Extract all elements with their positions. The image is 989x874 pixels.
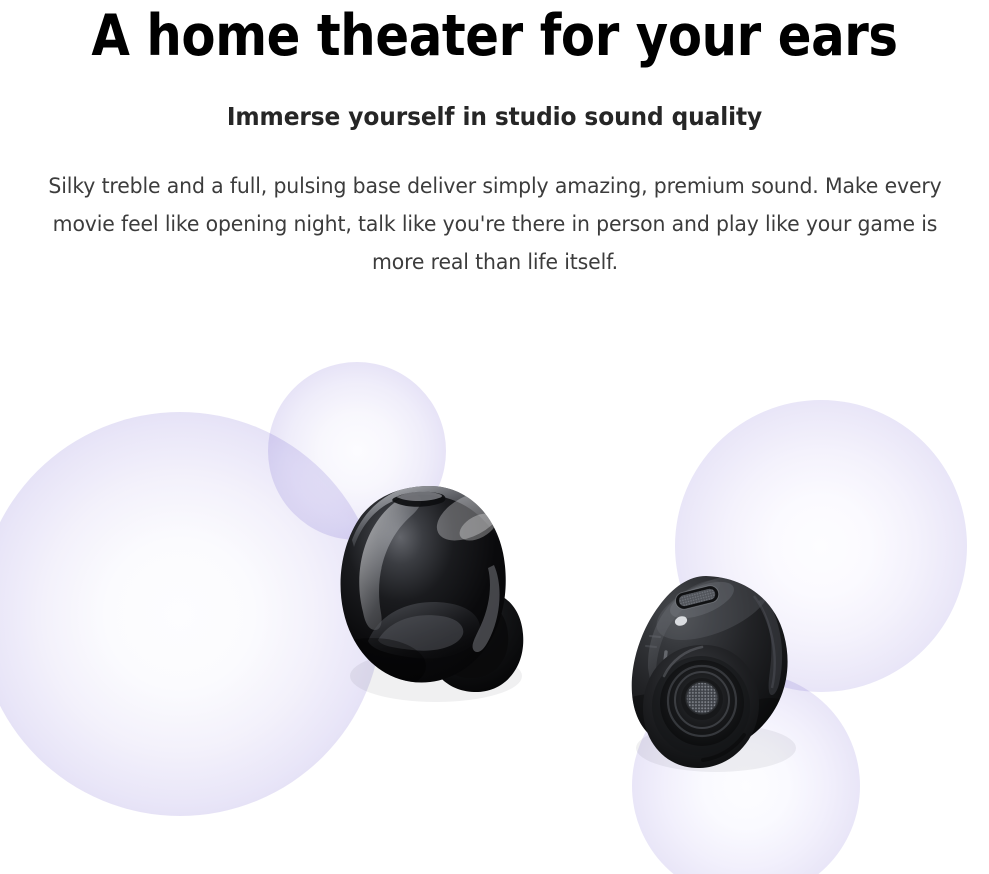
body-paragraph: Silky treble and a full, pulsing base de… <box>39 132 949 282</box>
page-subtitle: Immerse yourself in studio sound quality <box>25 70 965 132</box>
copy-block: A home theater for your ears Immerse you… <box>0 0 989 282</box>
product-feature-panel: A home theater for your ears Immerse you… <box>0 0 989 874</box>
page-title: A home theater for your ears <box>15 0 974 70</box>
earbud-glossy <box>318 481 523 694</box>
